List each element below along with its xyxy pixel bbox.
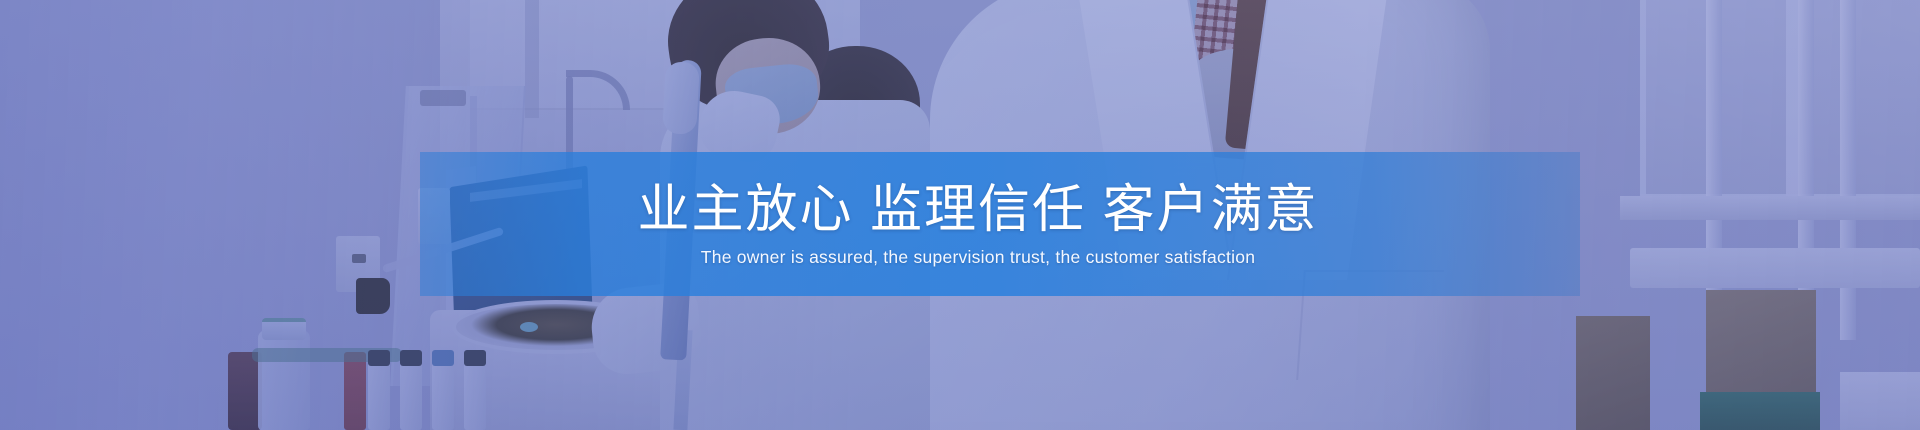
headline-band-content: 业主放心 监理信任 客户满意 The owner is assured, the… — [420, 152, 1580, 296]
banner-subline: The owner is assured, the supervision tr… — [701, 247, 1255, 268]
banner-headline: 业主放心 监理信任 客户满意 — [638, 182, 1319, 238]
headline-band: 业主放心 监理信任 客户满意 The owner is assured, the… — [420, 152, 1580, 296]
hero-banner: 业主放心 监理信任 客户满意 The owner is assured, the… — [0, 0, 1920, 430]
